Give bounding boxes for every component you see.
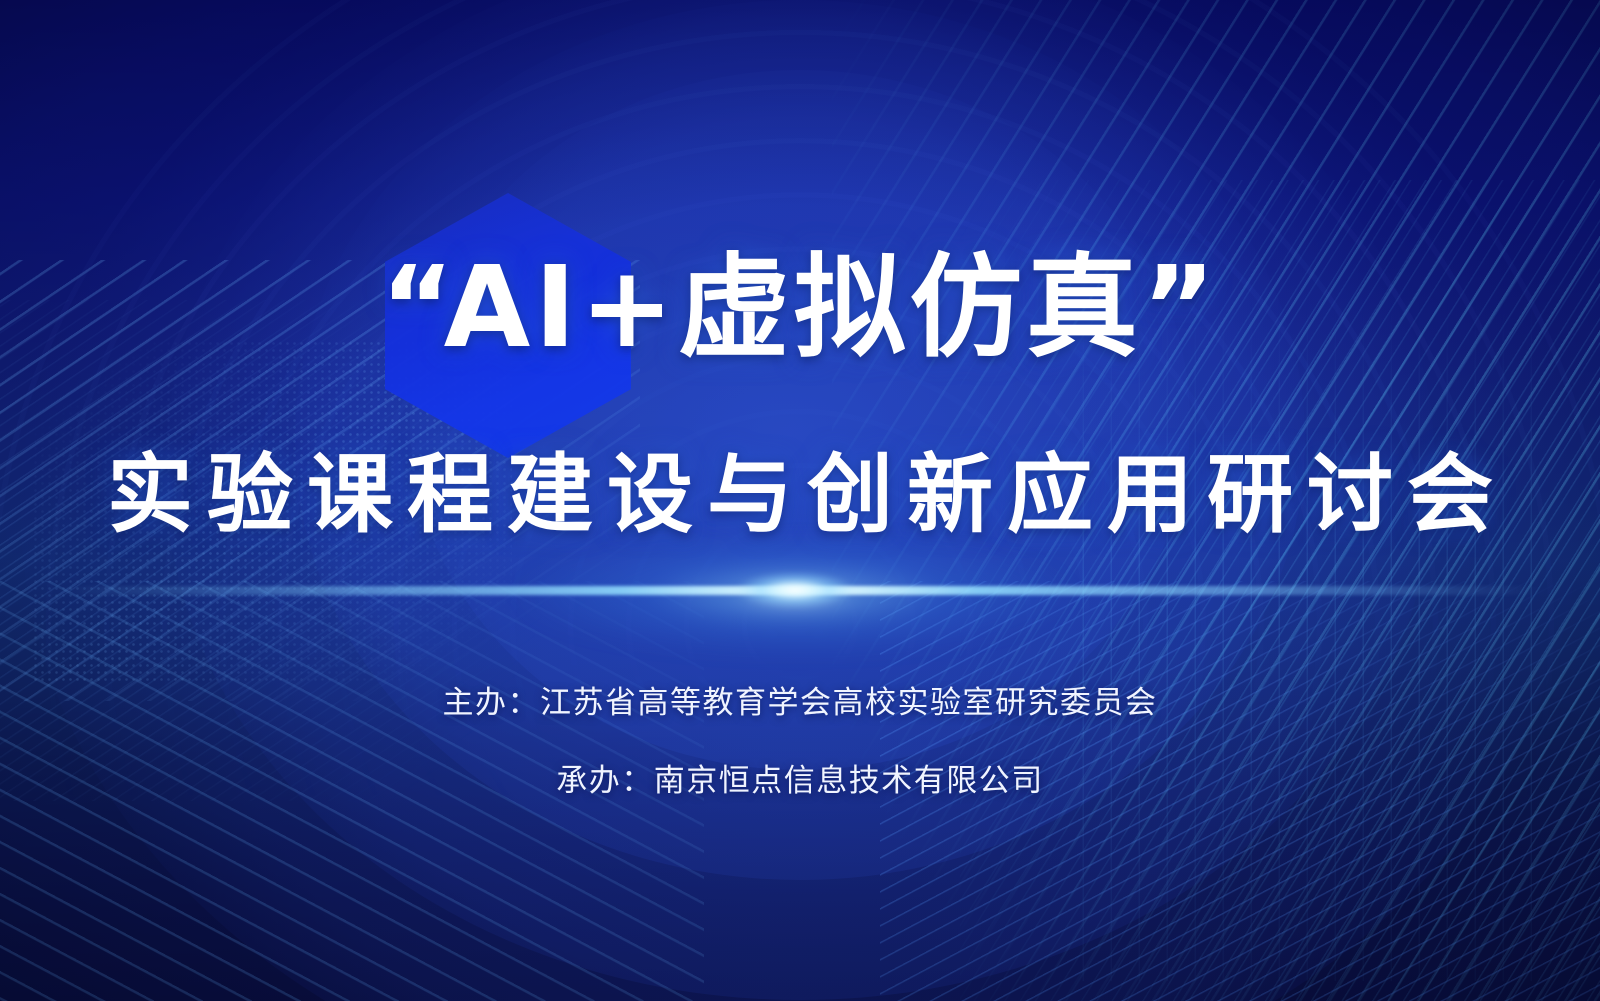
organizer-organization-line: 承办：南京恒点信息技术有限公司	[0, 766, 1600, 797]
host-organization-line: 主办：江苏省高等教育学会高校实验室研究委员会	[0, 688, 1600, 719]
poster-content: “AI+虚拟仿真” 实验课程建设与创新应用研讨会 主办：江苏省高等教育学会高校实…	[0, 0, 1600, 1001]
poster-canvas: “AI+虚拟仿真” 实验课程建设与创新应用研讨会 主办：江苏省高等教育学会高校实…	[0, 0, 1600, 1001]
poster-title-sub: 实验课程建设与创新应用研讨会	[0, 452, 1600, 538]
poster-title-main: “AI+虚拟仿真”	[0, 252, 1600, 364]
